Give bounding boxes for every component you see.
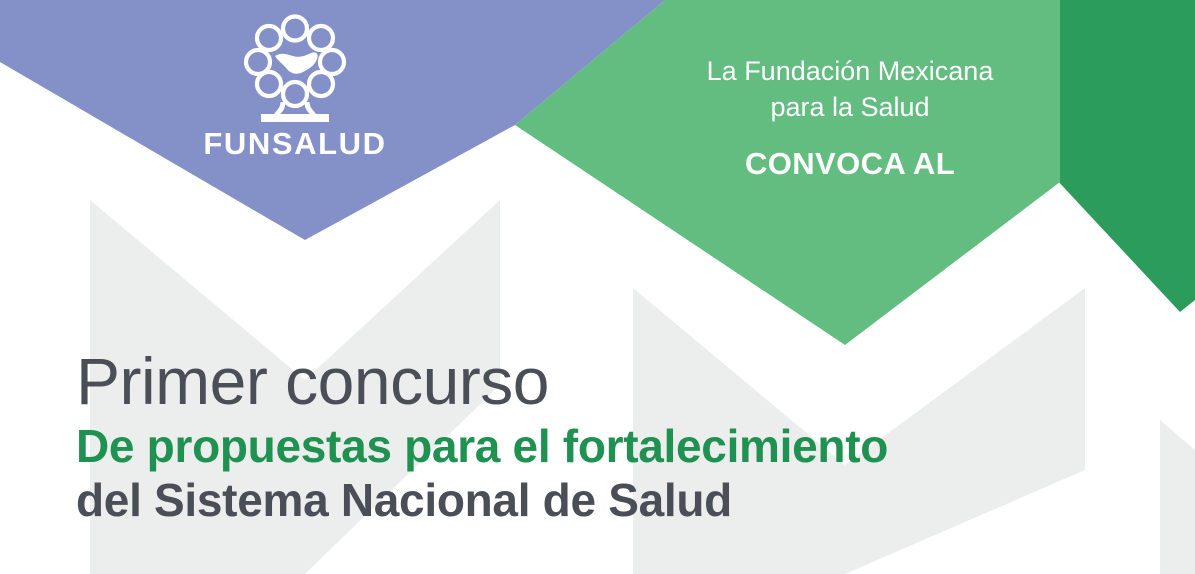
funsalud-wordmark: FUNSALUD [200,128,390,161]
headline-line-3: del Sistema Nacional de Salud [76,476,888,524]
funsalud-tree-icon [243,14,347,126]
funsalud-logo: FUNSALUD [200,14,390,161]
headline-line-2: De propuestas para el fortalecimiento [76,422,888,470]
headline-block: Primer concurso De propuestas para el fo… [76,348,888,525]
header-line-1: La Fundación Mexicana [620,54,1080,90]
poster-canvas: FUNSALUD La Fundación Mexicana para la S… [0,0,1195,574]
header-text-block: La Fundación Mexicana para la Salud CONV… [620,54,1080,182]
header-convoca-al: CONVOCA AL [620,146,1080,182]
header-line-2: para la Salud [620,90,1080,126]
headline-line-1: Primer concurso [76,348,888,414]
mexico-map-shape [275,52,318,73]
gray-chevron-right [1160,420,1195,574]
